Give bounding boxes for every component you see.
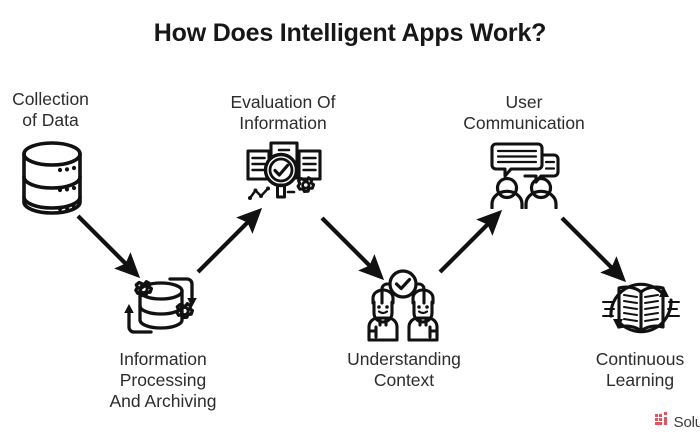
watermark: Solul xyxy=(655,412,700,432)
step-4-label: Understanding Context xyxy=(328,349,480,391)
watermark-text: Solul xyxy=(674,414,700,431)
step-1-label: Collection of Data xyxy=(0,89,113,131)
database-cylinder-icon xyxy=(14,139,90,215)
step-5-label: User Communication xyxy=(450,92,598,134)
database-gears-refresh-icon xyxy=(113,268,209,344)
arrow-understanding-to-communication xyxy=(440,220,492,272)
diagram-canvas: How Does Intelligent Apps Work? Collecti… xyxy=(0,0,700,441)
speech-bubbles-people-icon xyxy=(486,141,564,209)
arrow-evaluation-to-understanding xyxy=(322,218,374,270)
solulab-logo-mark xyxy=(655,412,670,432)
step-2-label: Information Processing And Archiving xyxy=(83,349,243,412)
open-book-refresh-icon xyxy=(601,272,681,344)
step-6-label: Continuous Learning xyxy=(572,349,700,391)
arrow-communication-to-learning xyxy=(562,218,616,272)
two-people-check-icon xyxy=(360,269,446,343)
step-3-label: Evaluation Of Information xyxy=(213,92,353,134)
documents-magnifier-check-icon xyxy=(243,140,325,212)
arrow-collection-to-processing xyxy=(78,216,130,268)
arrow-processing-to-evaluation xyxy=(198,218,252,272)
